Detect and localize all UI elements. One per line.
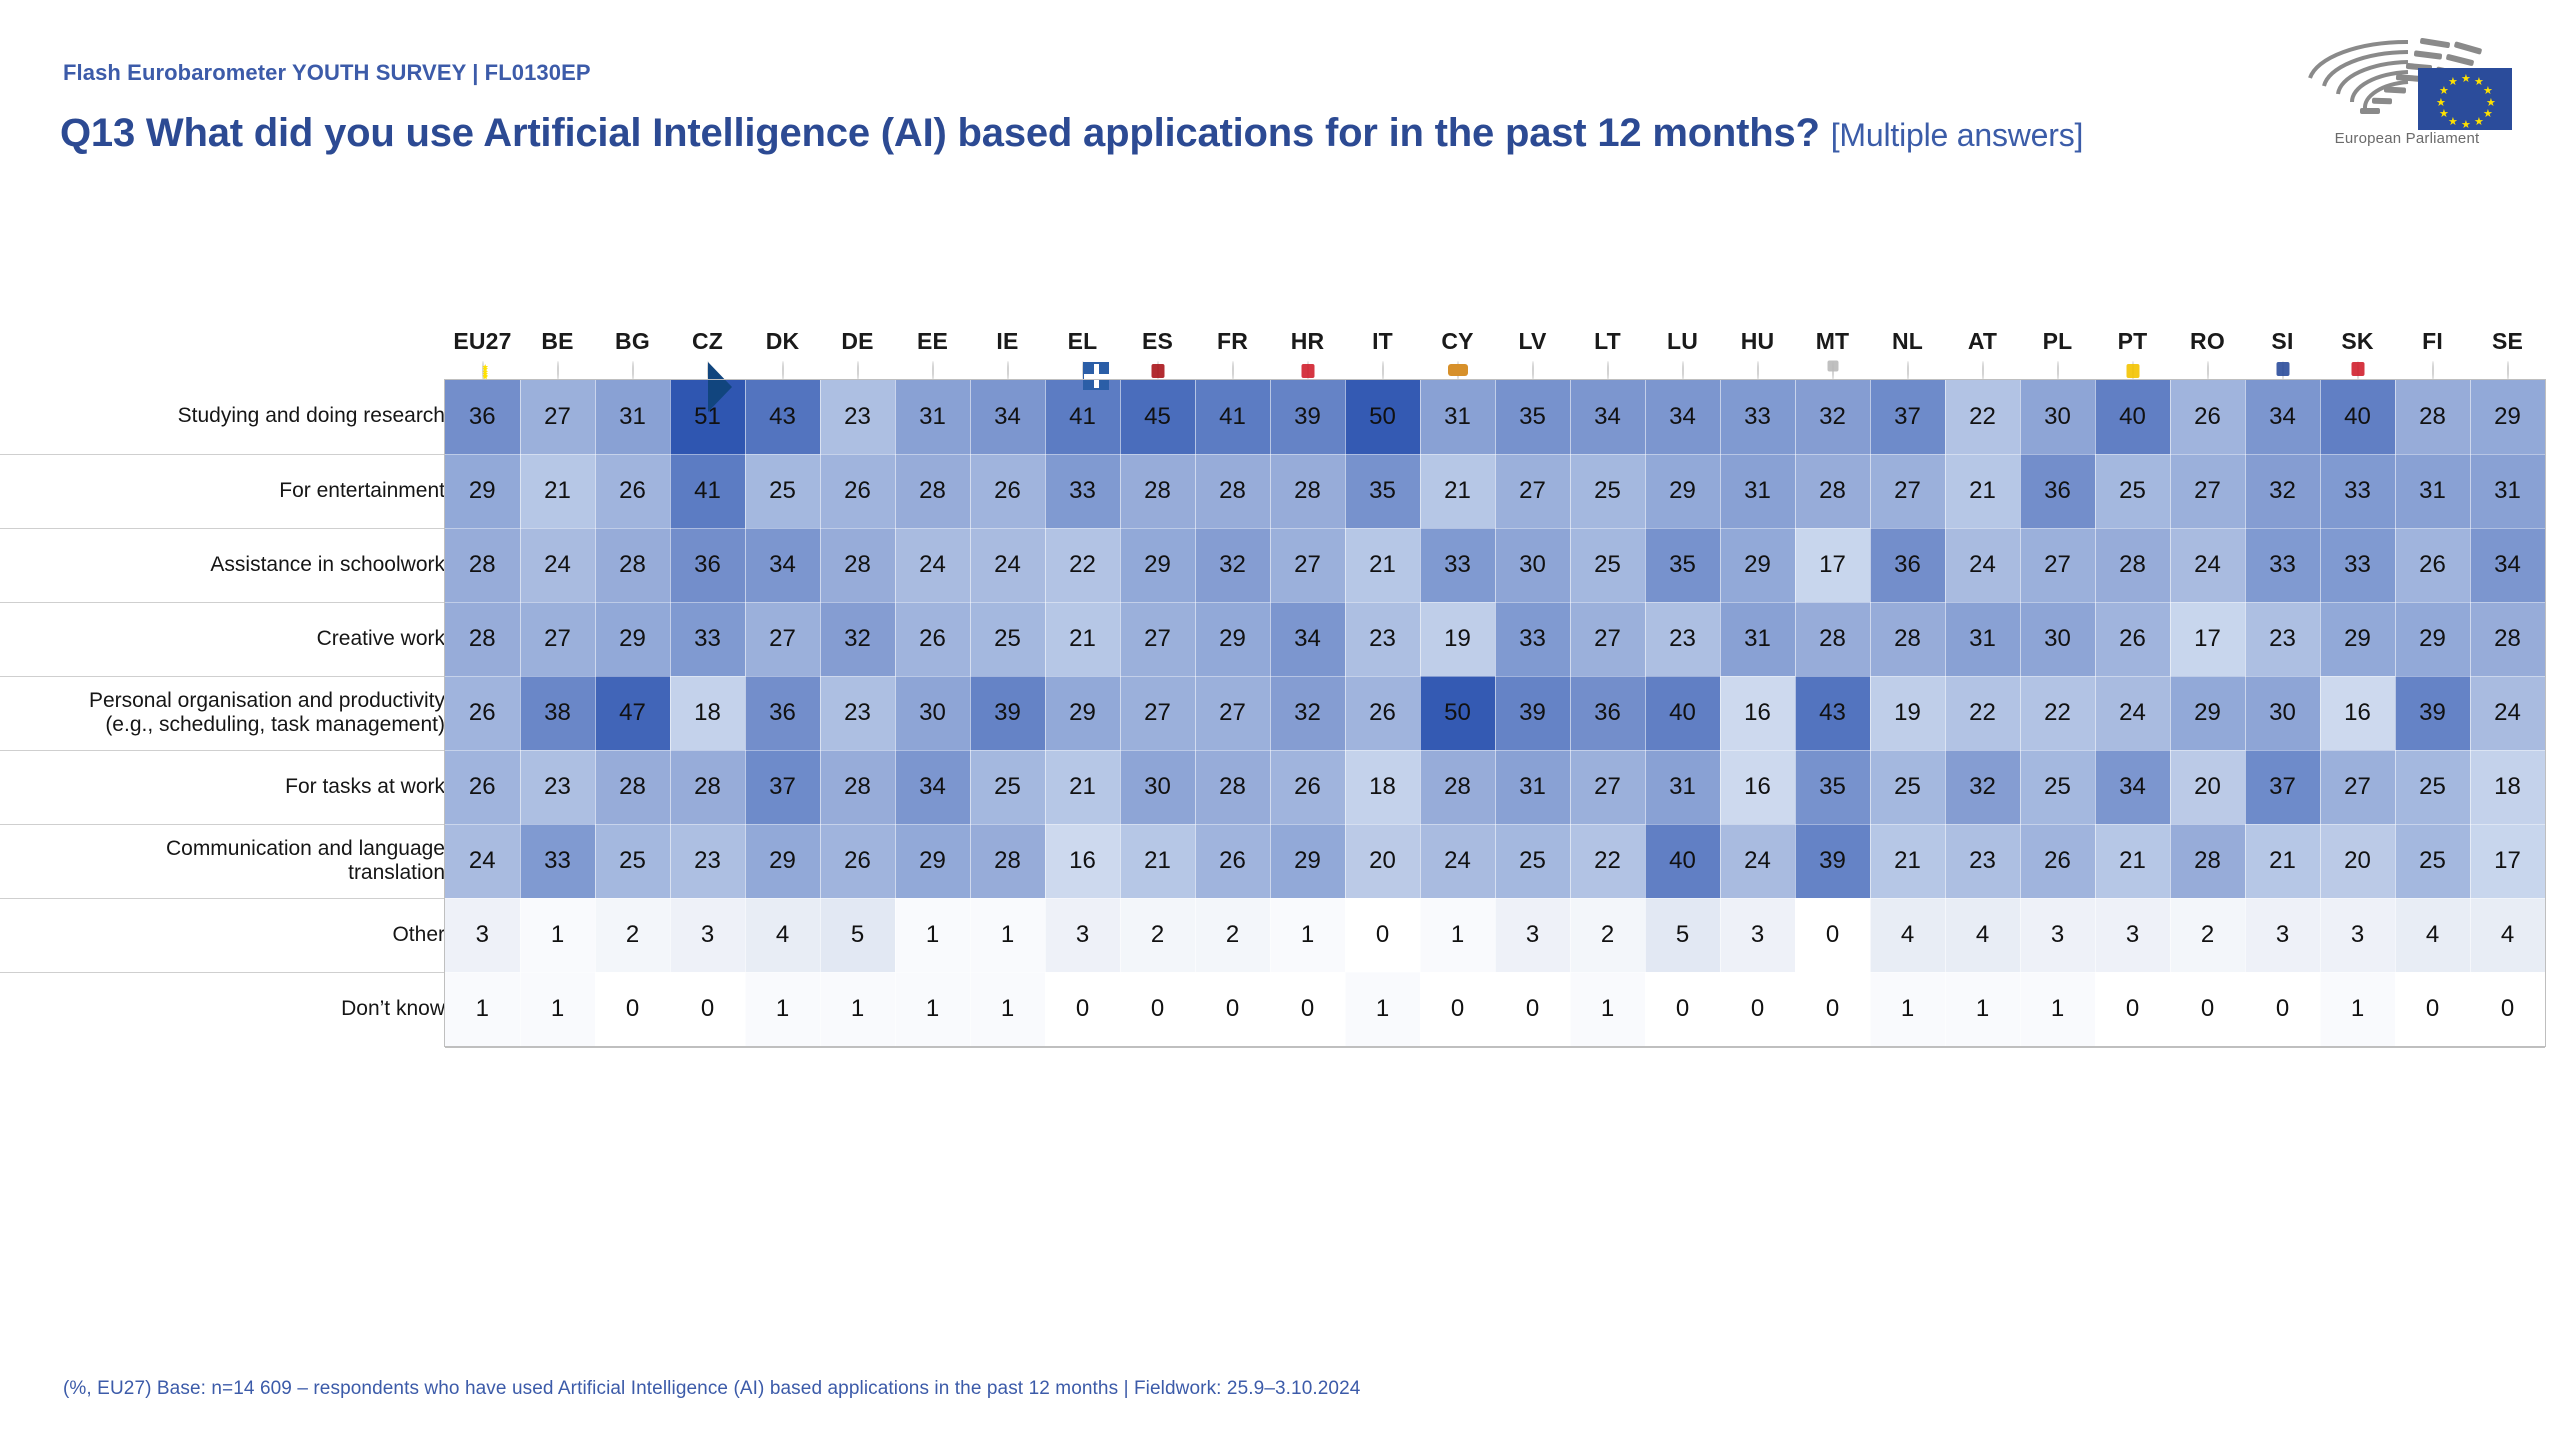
eu-flag-icon: ★ ★ ★ ★ ★ ★ ★ ★ ★ ★ ★ ★ (2418, 68, 2512, 130)
flag-icon-hr (1307, 361, 1309, 380)
heatmap-cell: 28 (1870, 602, 1945, 676)
table-row: Don’t know1100111100001001000111000100 (0, 972, 2545, 1046)
heatmap-cell: 33 (1045, 454, 1120, 528)
heatmap-cell: 26 (1345, 676, 1420, 750)
heatmap-cell: 29 (1195, 602, 1270, 676)
heatmap-cell: 29 (2170, 676, 2245, 750)
heatmap-cell: 5 (1645, 898, 1720, 972)
heatmap-cell: 37 (745, 750, 820, 824)
heatmap-cell: 23 (820, 676, 895, 750)
heatmap-cell: 40 (1645, 676, 1720, 750)
heatmap-cell: 3 (2320, 898, 2395, 972)
heatmap-cell: 17 (2470, 824, 2545, 898)
heatmap-cell: 4 (1945, 898, 2020, 972)
heatmap-cell: 34 (2470, 528, 2545, 602)
heatmap-cell: 26 (2395, 528, 2470, 602)
heatmap-cell: 25 (2395, 750, 2470, 824)
flag-icon-ie (1007, 361, 1009, 380)
heatmap-cell: 2 (2170, 898, 2245, 972)
table-row: Personal organisation and productivity(e… (0, 676, 2545, 750)
column-label: IE (970, 329, 1045, 353)
heatmap-cell: 27 (2170, 454, 2245, 528)
column-label: FR (1195, 329, 1270, 353)
heatmap-cell: 28 (1195, 750, 1270, 824)
heatmap-cell: 28 (1270, 454, 1345, 528)
heatmap-cell: 32 (1795, 380, 1870, 454)
heatmap-cell: 28 (1120, 454, 1195, 528)
heatmap-cell: 28 (895, 454, 970, 528)
heatmap-cell: 16 (1720, 750, 1795, 824)
heatmap-cell: 0 (2395, 972, 2470, 1046)
flag-icon-el (1082, 361, 1084, 380)
heatmap-cell: 50 (1420, 676, 1495, 750)
heatmap-cell: 27 (1495, 454, 1570, 528)
heatmap-cell: 29 (1720, 528, 1795, 602)
heatmap-cell: 40 (2095, 380, 2170, 454)
heatmap-cell: 31 (1945, 602, 2020, 676)
heatmap-cell: 39 (2395, 676, 2470, 750)
heatmap-cell: 0 (1345, 898, 1420, 972)
heatmap-cell: 23 (820, 380, 895, 454)
heatmap-cell: 26 (1270, 750, 1345, 824)
column-header-es[interactable]: ES (1120, 262, 1195, 380)
logo-caption: European Parliament (2302, 130, 2512, 147)
heatmap-cell: 24 (2470, 676, 2545, 750)
heatmap-cell: 25 (1570, 528, 1645, 602)
column-header-pl[interactable]: PL (2020, 262, 2095, 380)
heatmap-cell: 16 (2320, 676, 2395, 750)
heatmap-cell: 0 (2470, 972, 2545, 1046)
column-label: CY (1420, 329, 1495, 353)
heatmap-cell: 24 (445, 824, 520, 898)
heatmap-cell: 22 (1945, 676, 2020, 750)
heatmap-cell: 19 (1420, 602, 1495, 676)
column-header-lt[interactable]: LT (1570, 262, 1645, 380)
heatmap-cell: 33 (1420, 528, 1495, 602)
heatmap-cell: 32 (820, 602, 895, 676)
row-label-line: Personal organisation and productivity (0, 689, 445, 713)
row-label: Communication and languagetranslation (0, 824, 445, 898)
heatmap-cell: 40 (2320, 380, 2395, 454)
heatmap-cell: 21 (2095, 824, 2170, 898)
heatmap-cell: 37 (2245, 750, 2320, 824)
heatmap-cell: 27 (2320, 750, 2395, 824)
flag-icon-hu (1757, 361, 1759, 380)
row-label: Don’t know (0, 972, 445, 1046)
heatmap-cell: 28 (670, 750, 745, 824)
row-label: Creative work (0, 602, 445, 676)
flag-icon-ee (932, 361, 934, 380)
heatmap-cell: 35 (1645, 528, 1720, 602)
heatmap-cell: 1 (970, 898, 1045, 972)
column-header-dk[interactable]: DK (745, 262, 820, 380)
column-header-si[interactable]: SI (2245, 262, 2320, 380)
heatmap-cell: 30 (2020, 380, 2095, 454)
flag-icon-mt (1832, 361, 1834, 380)
heatmap-cell: 23 (1945, 824, 2020, 898)
heatmap-cell: 3 (2095, 898, 2170, 972)
heatmap-cell: 31 (895, 380, 970, 454)
column-label: HU (1720, 329, 1795, 353)
heatmap-cell: 1 (895, 972, 970, 1046)
column-header-nl[interactable]: NL (1870, 262, 1945, 380)
heatmap-cell: 27 (1120, 602, 1195, 676)
heatmap-cell: 29 (1120, 528, 1195, 602)
heatmap-cell: 23 (2245, 602, 2320, 676)
footer-note: (%, EU27) Base: n=14 609 – respondents w… (63, 1378, 1360, 1400)
heatmap-cell: 18 (1345, 750, 1420, 824)
heatmap-cell: 3 (1720, 898, 1795, 972)
column-header-ro[interactable]: RO (2170, 262, 2245, 380)
heatmap-cell: 23 (1345, 602, 1420, 676)
heatmap-cell: 16 (1045, 824, 1120, 898)
heatmap-cell: 20 (2320, 824, 2395, 898)
row-label: Studying and doing research (0, 380, 445, 454)
heatmap-cell: 1 (1945, 972, 2020, 1046)
heatmap-cell: 0 (2170, 972, 2245, 1046)
heatmap-cell: 4 (2395, 898, 2470, 972)
column-header-cy[interactable]: CY (1420, 262, 1495, 380)
flag-icon-sk (2357, 361, 2359, 380)
column-header-ee[interactable]: EE (895, 262, 970, 380)
heatmap-cell: 0 (1795, 972, 1870, 1046)
heatmap-cell: 29 (595, 602, 670, 676)
heatmap-cell: 3 (670, 898, 745, 972)
flag-icon-de (857, 361, 859, 380)
column-header-se[interactable]: SE (2470, 262, 2545, 380)
heatmap-cell: 31 (2470, 454, 2545, 528)
heatmap-cell: 41 (1195, 380, 1270, 454)
column-label: ES (1120, 329, 1195, 353)
flag-icon-dk (782, 361, 784, 380)
column-header-de[interactable]: DE (820, 262, 895, 380)
heatmap-cell: 31 (1645, 750, 1720, 824)
heatmap-cell: 25 (1570, 454, 1645, 528)
flag-icon-cz (707, 361, 709, 380)
heatmap-cell: 28 (595, 750, 670, 824)
column-header-hu[interactable]: HU (1720, 262, 1795, 380)
heatmap-cell: 28 (1795, 454, 1870, 528)
flag-icon-lu (1682, 361, 1684, 380)
flag-icon-si (2282, 361, 2284, 380)
european-parliament-logo: ★ ★ ★ ★ ★ ★ ★ ★ ★ ★ ★ ★ European Parliam… (2302, 34, 2512, 159)
heatmap-cell: 21 (1420, 454, 1495, 528)
heatmap-cell: 28 (820, 528, 895, 602)
column-header-el[interactable]: EL (1045, 262, 1120, 380)
heatmap-cell: 33 (2245, 528, 2320, 602)
heatmap-cell: 31 (2395, 454, 2470, 528)
heatmap-cell: 1 (1270, 898, 1345, 972)
column-header-be[interactable]: BE (520, 262, 595, 380)
heatmap-cell: 19 (1870, 676, 1945, 750)
heatmap-cell: 2 (1120, 898, 1195, 972)
flag-icon-cy (1457, 361, 1459, 380)
heatmap-cell: 29 (1270, 824, 1345, 898)
heatmap-cell: 25 (595, 824, 670, 898)
heatmap-cell: 47 (595, 676, 670, 750)
heatmap-cell: 0 (1645, 972, 1720, 1046)
heatmap-cell: 0 (670, 972, 745, 1046)
column-label: PL (2020, 329, 2095, 353)
heatmap-cell: 24 (970, 528, 1045, 602)
heatmap-cell: 28 (2395, 380, 2470, 454)
column-label: EL (1045, 329, 1120, 353)
flag-icon-ro (2207, 361, 2209, 380)
heatmap-cell: 3 (1045, 898, 1120, 972)
heatmap-cell: 4 (745, 898, 820, 972)
heatmap-cell: 0 (1120, 972, 1195, 1046)
column-label: NL (1870, 329, 1945, 353)
heatmap-cell: 33 (1495, 602, 1570, 676)
heatmap-cell: 35 (1495, 380, 1570, 454)
heatmap-cell: 27 (1870, 454, 1945, 528)
heatmap-cell: 21 (1870, 824, 1945, 898)
column-label: SK (2320, 329, 2395, 353)
heatmap-cell: 26 (445, 750, 520, 824)
column-header-at[interactable]: AT (1945, 262, 2020, 380)
heatmap-cell: 31 (1720, 454, 1795, 528)
heatmap-cell: 2 (1195, 898, 1270, 972)
heatmap-cell: 2 (595, 898, 670, 972)
column-label: HR (1270, 329, 1345, 353)
slide-root: Flash Eurobarometer YOUTH SURVEY | FL013… (0, 0, 2560, 1440)
column-header-ie[interactable]: IE (970, 262, 1045, 380)
table-frame-line (445, 379, 2545, 380)
heatmap-cell: 39 (1270, 380, 1345, 454)
heatmap-cell: 33 (2320, 528, 2395, 602)
column-header-eu27[interactable]: EU27★★★★★★★★★★★★ (445, 262, 520, 380)
heatmap-cell: 34 (970, 380, 1045, 454)
heatmap-cell: 30 (1495, 528, 1570, 602)
table-row: For tasks at work26232828372834252130282… (0, 750, 2545, 824)
table-row: Communication and languagetranslation243… (0, 824, 2545, 898)
heatmap-cell: 30 (2245, 676, 2320, 750)
heatmap-cell: 32 (1195, 528, 1270, 602)
column-header-cz[interactable]: CZ (670, 262, 745, 380)
heatmap-cell: 29 (1645, 454, 1720, 528)
table-header-row: EU27★★★★★★★★★★★★BEBGCZDKDEEEIEELESFRHRIT… (0, 262, 2545, 380)
heatmap-cell: 33 (2320, 454, 2395, 528)
heatmap-cell: 27 (1120, 676, 1195, 750)
heatmap-cell: 40 (1645, 824, 1720, 898)
heatmap-cell: 31 (1720, 602, 1795, 676)
flag-icon-lv (1532, 361, 1534, 380)
flag-icon-bg (632, 361, 634, 380)
survey-eyebrow: Flash Eurobarometer YOUTH SURVEY | FL013… (63, 60, 591, 86)
column-header-fr[interactable]: FR (1195, 262, 1270, 380)
column-header-lv[interactable]: LV (1495, 262, 1570, 380)
column-label: BG (595, 329, 670, 353)
page-title: Q13 What did you use Artificial Intellig… (60, 110, 2240, 157)
heatmap-cell: 31 (1420, 380, 1495, 454)
corner-cell (0, 262, 445, 380)
heatmap-cell: 0 (1045, 972, 1120, 1046)
heatmap-cell: 26 (2020, 824, 2095, 898)
heatmap-cell: 39 (1795, 824, 1870, 898)
heatmap-cell: 25 (1495, 824, 1570, 898)
heatmap-cell: 1 (745, 972, 820, 1046)
column-label: LT (1570, 329, 1645, 353)
column-header-lu[interactable]: LU (1645, 262, 1720, 380)
heatmap-cell: 36 (2020, 454, 2095, 528)
column-label: CZ (670, 329, 745, 353)
table-row: Assistance in schoolwork2824283634282424… (0, 528, 2545, 602)
heatmap-cell: 24 (895, 528, 970, 602)
table-row: Other3123451132210132530443323344 (0, 898, 2545, 972)
heatmap-cell: 24 (2170, 528, 2245, 602)
heatmap-cell: 26 (895, 602, 970, 676)
heatmap-cell: 30 (1120, 750, 1195, 824)
heatmap-cell: 28 (2470, 602, 2545, 676)
heatmap-cell: 0 (1195, 972, 1270, 1046)
heatmap-cell: 16 (1720, 676, 1795, 750)
heatmap-cell: 50 (1345, 380, 1420, 454)
heatmap-cell: 35 (1345, 454, 1420, 528)
flag-icon-lt (1607, 361, 1609, 380)
heatmap-cell: 32 (1270, 676, 1345, 750)
heatmap-cell: 24 (1945, 528, 2020, 602)
heatmap-cell: 29 (445, 454, 520, 528)
heatmap-cell: 23 (1645, 602, 1720, 676)
heatmap-cell: 22 (1045, 528, 1120, 602)
flag-icon-it (1382, 361, 1384, 380)
heatmap-cell: 1 (520, 898, 595, 972)
heatmap-cell: 3 (1495, 898, 1570, 972)
heatmap-cell: 41 (1045, 380, 1120, 454)
heatmap-cell: 18 (670, 676, 745, 750)
table-frame-line (2545, 379, 2546, 1047)
heatmap-cell: 39 (1495, 676, 1570, 750)
heatmap-cell: 34 (745, 528, 820, 602)
table-row: For entertainment29212641252628263328282… (0, 454, 2545, 528)
column-header-hr[interactable]: HR (1270, 262, 1345, 380)
heatmap-cell: 36 (1870, 528, 1945, 602)
heatmap-cell: 29 (2470, 380, 2545, 454)
heatmap-cell: 26 (445, 676, 520, 750)
heatmap-cell: 22 (1945, 380, 2020, 454)
heatmap-cell: 34 (2245, 380, 2320, 454)
heatmap-cell: 36 (670, 528, 745, 602)
flag-icon-be (557, 361, 559, 380)
heatmap-cell: 31 (1495, 750, 1570, 824)
column-header-fi[interactable]: FI (2395, 262, 2470, 380)
heatmap-cell: 21 (1045, 750, 1120, 824)
heatmap-cell: 0 (2095, 972, 2170, 1046)
heatmap-cell: 0 (1720, 972, 1795, 1046)
column-label: IT (1345, 329, 1420, 353)
heatmap-cell: 0 (595, 972, 670, 1046)
heatmap-cell: 33 (1720, 380, 1795, 454)
heatmap-cell: 33 (670, 602, 745, 676)
table-row: Creative work282729332732262521272934231… (0, 602, 2545, 676)
heatmap-cell: 28 (820, 750, 895, 824)
heatmap-cell: 43 (745, 380, 820, 454)
heatmap-cell: 1 (970, 972, 1045, 1046)
heatmap-cell: 34 (895, 750, 970, 824)
column-header-pt[interactable]: PT (2095, 262, 2170, 380)
heatmap-cell: 0 (1795, 898, 1870, 972)
heatmap-cell: 29 (895, 824, 970, 898)
column-label: MT (1795, 329, 1870, 353)
page-title-main: Q13 What did you use Artificial Intellig… (60, 111, 1820, 155)
heatmap-cell: 20 (1345, 824, 1420, 898)
heatmap-cell: 29 (1045, 676, 1120, 750)
row-label: Assistance in schoolwork (0, 528, 445, 602)
column-label: EU27 (445, 329, 520, 353)
heatmap-cell: 28 (1195, 454, 1270, 528)
heatmap-cell: 25 (970, 602, 1045, 676)
heatmap-cell: 30 (895, 676, 970, 750)
heatmap-cell: 22 (1570, 824, 1645, 898)
flag-icon-se (2507, 361, 2509, 380)
column-label: DE (820, 329, 895, 353)
heatmap-cell: 1 (895, 898, 970, 972)
heatmap-cell: 5 (820, 898, 895, 972)
column-header-sk[interactable]: SK (2320, 262, 2395, 380)
heatmap-cell: 28 (1420, 750, 1495, 824)
heatmap-cell: 26 (820, 454, 895, 528)
heatmap-cell: 34 (1645, 380, 1720, 454)
heatmap-cell: 0 (1495, 972, 1570, 1046)
heatmap-cell: 24 (1720, 824, 1795, 898)
heatmap-table-container: EU27★★★★★★★★★★★★BEBGCZDKDEEEIEELESFRHRIT… (0, 262, 2546, 1047)
heatmap-cell: 18 (2470, 750, 2545, 824)
heatmap-cell: 32 (2245, 454, 2320, 528)
flag-icon-fi (2432, 361, 2434, 380)
heatmap-cell: 27 (1195, 676, 1270, 750)
heatmap-cell: 21 (1345, 528, 1420, 602)
heatmap-cell: 17 (1795, 528, 1870, 602)
heatmap-cell: 21 (1045, 602, 1120, 676)
heatmap-cell: 1 (1345, 972, 1420, 1046)
row-label-line: (e.g., scheduling, task management) (0, 713, 445, 737)
heatmap-cell: 31 (595, 380, 670, 454)
heatmap-cell: 0 (1270, 972, 1345, 1046)
column-header-it[interactable]: IT (1345, 262, 1420, 380)
heatmap-cell: 39 (970, 676, 1045, 750)
heatmap-cell: 23 (670, 824, 745, 898)
heatmap-cell: 17 (2170, 602, 2245, 676)
heatmap-cell: 28 (1795, 602, 1870, 676)
heatmap-cell: 25 (745, 454, 820, 528)
table-row: Studying and doing research3627315143233… (0, 380, 2545, 454)
heatmap-cell: 28 (445, 528, 520, 602)
row-label: Other (0, 898, 445, 972)
heatmap-cell: 2 (1570, 898, 1645, 972)
heatmap-cell: 35 (1795, 750, 1870, 824)
heatmap-cell: 4 (2470, 898, 2545, 972)
heatmap-cell: 26 (2095, 602, 2170, 676)
heatmap-cell: 21 (520, 454, 595, 528)
column-header-bg[interactable]: BG (595, 262, 670, 380)
row-label: Personal organisation and productivity(e… (0, 676, 445, 750)
heatmap-cell: 25 (970, 750, 1045, 824)
column-header-mt[interactable]: MT (1795, 262, 1870, 380)
heatmap-cell: 1 (520, 972, 595, 1046)
heatmap-cell: 1 (1870, 972, 1945, 1046)
heatmap-cell: 38 (520, 676, 595, 750)
table-frame-line (444, 379, 445, 1047)
heatmap-cell: 1 (445, 972, 520, 1046)
heatmap-cell: 29 (2395, 602, 2470, 676)
column-label: BE (520, 329, 595, 353)
heatmap-cell: 25 (2095, 454, 2170, 528)
column-label: SE (2470, 329, 2545, 353)
heatmap-cell: 26 (595, 454, 670, 528)
flag-icon-es (1157, 361, 1159, 380)
column-label: LV (1495, 329, 1570, 353)
heatmap-cell: 25 (2395, 824, 2470, 898)
